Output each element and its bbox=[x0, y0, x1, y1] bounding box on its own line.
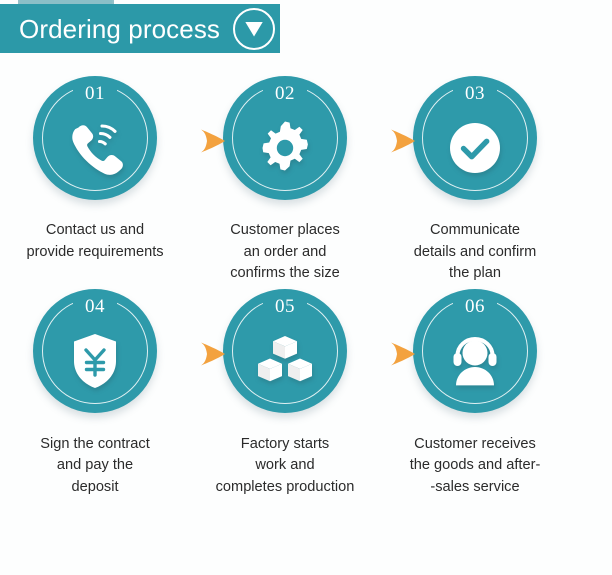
shield-yen-icon bbox=[33, 325, 157, 397]
arrow-right-icon bbox=[199, 128, 227, 154]
boxes-icon bbox=[223, 325, 347, 397]
step-02[interactable]: 02 Customer places an order and confirms… bbox=[190, 76, 380, 285]
step-caption: Customer receives the goods and after- -… bbox=[380, 434, 570, 499]
ring-gap bbox=[263, 293, 307, 317]
page-title: Ordering process bbox=[19, 16, 220, 42]
step-circle-bg bbox=[223, 289, 347, 413]
check-circle-icon bbox=[413, 112, 537, 184]
header-bar: Ordering process bbox=[0, 4, 280, 53]
step-05-circle: 05 bbox=[223, 289, 347, 413]
arrow-right-icon bbox=[389, 128, 417, 154]
arrow-right-icon bbox=[199, 341, 227, 367]
step-03-circle: 03 bbox=[413, 76, 537, 200]
ring-gap bbox=[453, 80, 497, 104]
process-steps: 01 Contact us and provide requirements 0… bbox=[0, 76, 612, 498]
step-01-circle: 01 bbox=[33, 76, 157, 200]
ring-gap bbox=[73, 80, 117, 104]
step-05[interactable]: 05 Factory starts work and completes pro… bbox=[190, 289, 380, 499]
arrow-right-icon bbox=[389, 341, 417, 367]
steps-row-2: 04 Sign the contract and pay the deposit bbox=[0, 289, 612, 499]
step-02-circle: 02 bbox=[223, 76, 347, 200]
step-06-circle: 06 bbox=[413, 289, 537, 413]
step-06[interactable]: 06 Customer receives the goods and after… bbox=[380, 289, 570, 499]
step-caption: Customer places an order and confirms th… bbox=[190, 220, 380, 285]
steps-row-1: 01 Contact us and provide requirements 0… bbox=[0, 76, 612, 285]
step-circle-bg bbox=[33, 76, 157, 200]
step-04[interactable]: 04 Sign the contract and pay the deposit bbox=[0, 289, 190, 499]
step-caption: Sign the contract and pay the deposit bbox=[0, 434, 190, 499]
gear-icon bbox=[223, 112, 347, 184]
chevron-down-icon[interactable] bbox=[233, 8, 275, 50]
phone-call-icon bbox=[33, 112, 157, 184]
step-caption: Factory starts work and completes produc… bbox=[190, 434, 380, 499]
step-caption: Communicate details and confirm the plan bbox=[380, 220, 570, 285]
ring-gap bbox=[453, 293, 497, 317]
step-circle-bg bbox=[413, 76, 537, 200]
headset-person-icon bbox=[413, 325, 537, 397]
step-circle-bg bbox=[223, 76, 347, 200]
step-caption: Contact us and provide requirements bbox=[0, 220, 190, 263]
step-01[interactable]: 01 Contact us and provide requirements bbox=[0, 76, 190, 285]
step-circle-bg bbox=[413, 289, 537, 413]
ring-gap bbox=[263, 80, 307, 104]
step-03[interactable]: 03 Communicate details and confirm the p… bbox=[380, 76, 570, 285]
step-04-circle: 04 bbox=[33, 289, 157, 413]
ring-gap bbox=[73, 293, 117, 317]
step-circle-bg bbox=[33, 289, 157, 413]
